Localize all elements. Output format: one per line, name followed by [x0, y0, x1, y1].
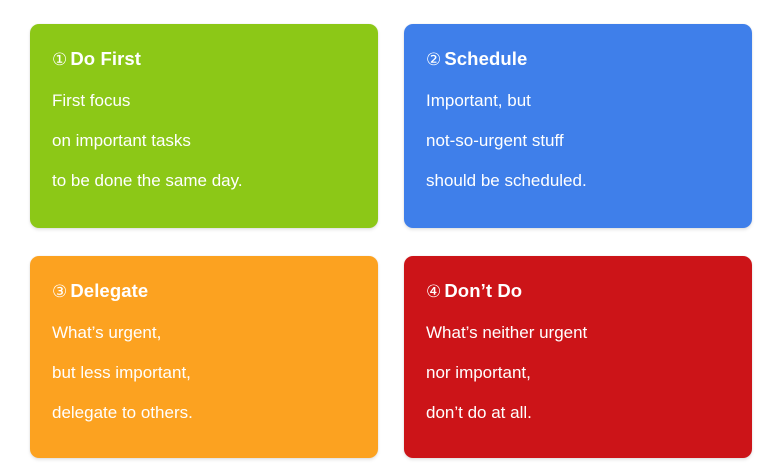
quadrant-body-schedule: Important, but not-so-urgent stuff shoul…	[426, 92, 730, 189]
quadrant-title-text: Schedule	[444, 48, 527, 69]
quadrant-card-do-first[interactable]: ①Do First First focus on important tasks…	[30, 24, 378, 228]
quadrant-title-delegate: ③Delegate	[52, 282, 356, 301]
body-line: First focus	[52, 92, 356, 109]
quadrant-body-dont-do: What’s neither urgent nor important, don…	[426, 324, 730, 421]
quadrant-card-dont-do[interactable]: ④Don’t Do What’s neither urgent nor impo…	[404, 256, 752, 458]
circled-number-one-icon: ①	[52, 51, 67, 68]
body-line: to be done the same day.	[52, 172, 356, 189]
quadrant-title-text: Do First	[70, 48, 141, 69]
quadrant-title-do-first: ①Do First	[52, 50, 356, 69]
quadrant-title-dont-do: ④Don’t Do	[426, 282, 730, 301]
body-line: should be scheduled.	[426, 172, 730, 189]
quadrant-title-text: Delegate	[70, 280, 148, 301]
quadrant-card-schedule[interactable]: ②Schedule Important, but not-so-urgent s…	[404, 24, 752, 228]
body-line: delegate to others.	[52, 404, 356, 421]
quadrant-title-text: Don’t Do	[444, 280, 522, 301]
circled-number-three-icon: ③	[52, 283, 67, 300]
body-line: but less important,	[52, 364, 356, 381]
body-line: What’s neither urgent	[426, 324, 730, 341]
body-line: What’s urgent,	[52, 324, 356, 341]
circled-number-two-icon: ②	[426, 51, 441, 68]
body-line: not-so-urgent stuff	[426, 132, 730, 149]
body-line: nor important,	[426, 364, 730, 381]
body-line: on important tasks	[52, 132, 356, 149]
circled-number-four-icon: ④	[426, 283, 441, 300]
eisenhower-matrix-grid: ①Do First First focus on important tasks…	[30, 24, 752, 458]
quadrant-body-do-first: First focus on important tasks to be don…	[52, 92, 356, 189]
body-line: don’t do at all.	[426, 404, 730, 421]
quadrant-card-delegate[interactable]: ③Delegate What’s urgent, but less import…	[30, 256, 378, 458]
quadrant-title-schedule: ②Schedule	[426, 50, 730, 69]
quadrant-body-delegate: What’s urgent, but less important, deleg…	[52, 324, 356, 421]
body-line: Important, but	[426, 92, 730, 109]
